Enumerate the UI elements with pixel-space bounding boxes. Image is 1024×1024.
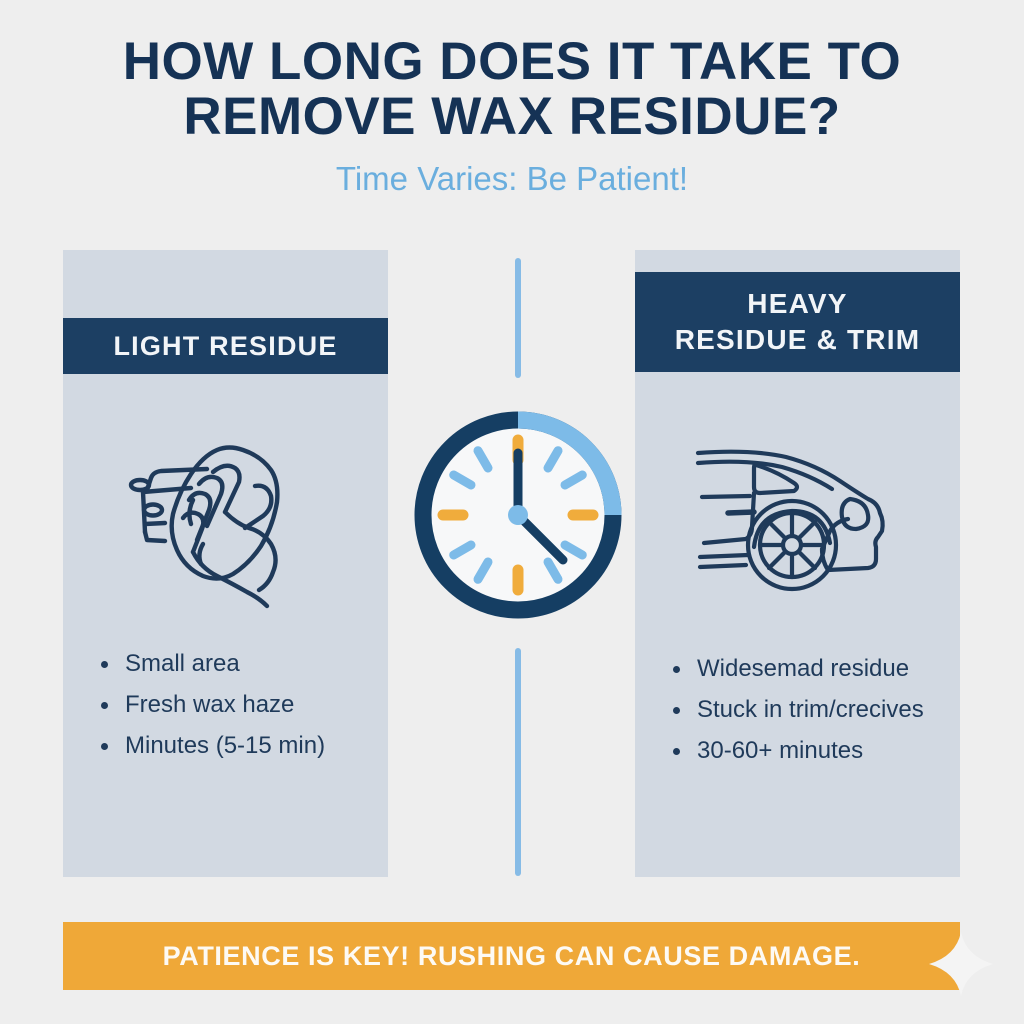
panel-right-heading: HEAVY RESIDUE & TRIM [635, 272, 960, 372]
panel-right-heading-line-2: RESIDUE & TRIM [675, 322, 920, 358]
page-title-line-1: HOW LONG DOES IT TAKE TO [0, 34, 1024, 89]
panel-right-heading-line-1: HEAVY [675, 286, 920, 322]
panel-heavy-residue: HEAVY RESIDUE & TRIM [635, 250, 960, 877]
sparkle-icon [925, 928, 997, 1000]
list-item: Minutes (5-15 min) [97, 732, 370, 760]
list-item: Stuck in trim/crecives [669, 696, 942, 724]
vertical-divider-top [515, 258, 521, 378]
car-rear-quarter-icon [635, 415, 960, 615]
panel-light-residue: LIGHT RESIDUE [63, 250, 388, 877]
page-subtitle: Time Varies: Be Patient! [0, 144, 1024, 197]
list-item: 30-60+ minutes [669, 737, 942, 765]
page-title-line-2: REMOVE WAX RESIDUE? [0, 89, 1024, 144]
vertical-divider-bottom [515, 648, 521, 876]
list-item: Fresh wax haze [97, 691, 370, 719]
header-block: HOW LONG DOES IT TAKE TO REMOVE WAX RESI… [0, 34, 1024, 197]
panel-right-bullets: Widesemad residue Stuck in trim/crecives… [669, 655, 942, 778]
banner-text: PATIENCE IS KEY! RUSHING CAN CAUSE DAMAG… [163, 941, 861, 972]
list-item: Small area [97, 650, 370, 678]
list-item: Widesemad residue [669, 655, 942, 683]
bottom-banner: PATIENCE IS KEY! RUSHING CAN CAUSE DAMAG… [63, 922, 960, 990]
panel-left-heading-text: LIGHT RESIDUE [113, 331, 337, 362]
panel-left-bullets: Small area Fresh wax haze Minutes (5-15 … [97, 650, 370, 773]
page-title: HOW LONG DOES IT TAKE TO REMOVE WAX RESI… [0, 34, 1024, 144]
clock-icon [411, 408, 625, 622]
hand-polishing-car-icon [63, 420, 388, 620]
infographic-root: HOW LONG DOES IT TAKE TO REMOVE WAX RESI… [0, 0, 1024, 1024]
panel-left-heading: LIGHT RESIDUE [63, 318, 388, 374]
